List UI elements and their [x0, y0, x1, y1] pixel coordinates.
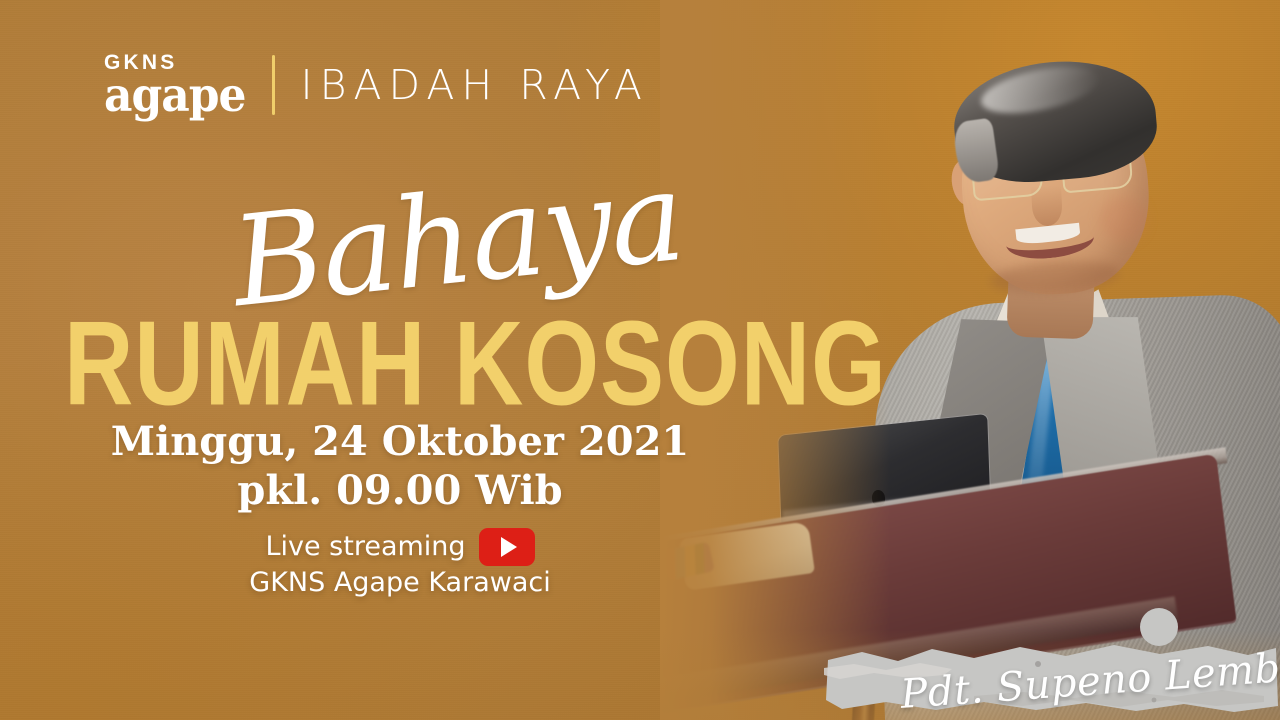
- poster-header: GKNS agape IBADAH RAYA: [104, 52, 649, 118]
- live-streaming-info: Live streaming GKNS Agape Karawaci: [0, 528, 800, 601]
- live-streaming-row: Live streaming: [265, 528, 534, 566]
- service-type-label: IBADAH RAYA: [301, 61, 649, 109]
- service-date: Minggu, 24 Oktober 2021: [0, 418, 800, 467]
- logo-line-agape: agape: [104, 73, 246, 120]
- gkns-agape-logo: GKNS agape: [104, 52, 246, 118]
- play-triangle-icon: [501, 537, 517, 557]
- service-time: pkl. 09.00 Wib: [0, 467, 800, 516]
- service-schedule: Minggu, 24 Oktober 2021 pkl. 09.00 Wib: [0, 418, 800, 516]
- streaming-channel-name: GKNS Agape Karawaci: [0, 566, 800, 601]
- youtube-play-icon[interactable]: [479, 528, 535, 566]
- cheek-highlight-shape: [1100, 196, 1146, 242]
- sermon-headline: RUMAH KOSONG: [64, 308, 887, 418]
- poster-canvas: GKNS agape IBADAH RAYA RUMAH KOSONG Baha…: [0, 0, 1280, 720]
- header-divider: [272, 55, 275, 115]
- live-streaming-label: Live streaming: [265, 530, 465, 565]
